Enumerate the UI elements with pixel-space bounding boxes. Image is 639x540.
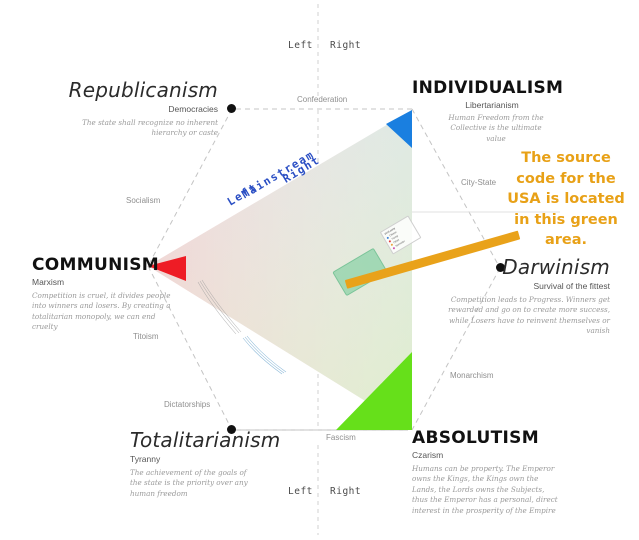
legend-swatch	[393, 247, 396, 250]
callout-line-2: code for the	[500, 169, 632, 190]
callout-line-4: in this green	[500, 210, 632, 231]
caption-monarchism: Monarchism	[450, 371, 494, 380]
svg-text:-1.0: -1.0	[273, 398, 282, 406]
callout-line-5: area.	[500, 230, 632, 251]
caption-socialism: Socialism	[126, 196, 160, 205]
pole-description: The state shall recognize no inherent hi…	[58, 118, 218, 139]
pole-title: ABSOLUTISM	[412, 428, 572, 448]
caption-city-state: City-State	[461, 178, 496, 187]
pole-individualism: INDIVIDUALISM Libertarianism Human Freed…	[412, 78, 572, 144]
pole-description: Human Freedom from the Collective is the…	[440, 113, 552, 144]
pole-republicanism: Republicanism Democracies The state shal…	[58, 78, 218, 139]
node-dot-republicanism	[227, 104, 236, 113]
caption-confederation: Confederation	[297, 95, 347, 104]
svg-text:-1.0: -1.0	[284, 399, 293, 407]
pole-title: INDIVIDUALISM	[412, 78, 572, 98]
pole-subtitle: Survival of the fittest	[445, 281, 610, 291]
pole-title: Totalitarianism	[130, 428, 280, 452]
callout-line-3: USA is located	[500, 189, 632, 210]
caption-fascism: Fascism	[326, 433, 356, 442]
infographic-canvas: -1.0-0.50.00.51.0-1.0-0.50.00.51.0 Econo…	[0, 0, 639, 540]
pole-description: Competition is cruel, it divides people …	[32, 291, 172, 333]
caption-titoism: Titoism	[133, 332, 158, 341]
pole-darwinism: Darwinism Survival of the fittest Compet…	[445, 255, 610, 337]
pole-subtitle: Democracies	[58, 104, 218, 114]
caption-dictatorships: Dictatorships	[164, 400, 210, 409]
pole-title: Darwinism	[445, 255, 610, 279]
callout-line-1: The source	[500, 148, 632, 169]
pole-absolutism: ABSOLUTISM Czarism Humans can be propert…	[412, 428, 572, 516]
pole-description: Competition leads to Progress. Winners g…	[445, 295, 610, 337]
label-top-left: Left	[288, 40, 313, 51]
pole-subtitle: Marxism	[32, 277, 182, 287]
svg-text:1.0: 1.0	[177, 235, 185, 243]
pole-description: The achievement of the goals of the stat…	[130, 468, 250, 499]
label-bottom-left: Left	[288, 486, 313, 497]
callout-text: The source code for the USA is located i…	[500, 148, 632, 251]
pole-title: COMMUNISM	[32, 255, 182, 275]
svg-text:-0.5: -0.5	[249, 357, 258, 365]
label-top-right: Right	[330, 40, 361, 51]
pole-description: Humans can be property. The Emperor owns…	[412, 464, 560, 516]
pole-title: Republicanism	[58, 78, 218, 102]
pole-subtitle: Czarism	[412, 450, 572, 460]
pole-communism: COMMUNISM Marxism Competition is cruel, …	[32, 255, 182, 333]
pole-subtitle: Libertarianism	[412, 100, 572, 110]
pole-totalitarianism: Totalitarianism Tyranny The achievement …	[130, 428, 280, 499]
pole-subtitle: Tyranny	[130, 454, 280, 464]
label-bottom-right: Right	[330, 486, 361, 497]
